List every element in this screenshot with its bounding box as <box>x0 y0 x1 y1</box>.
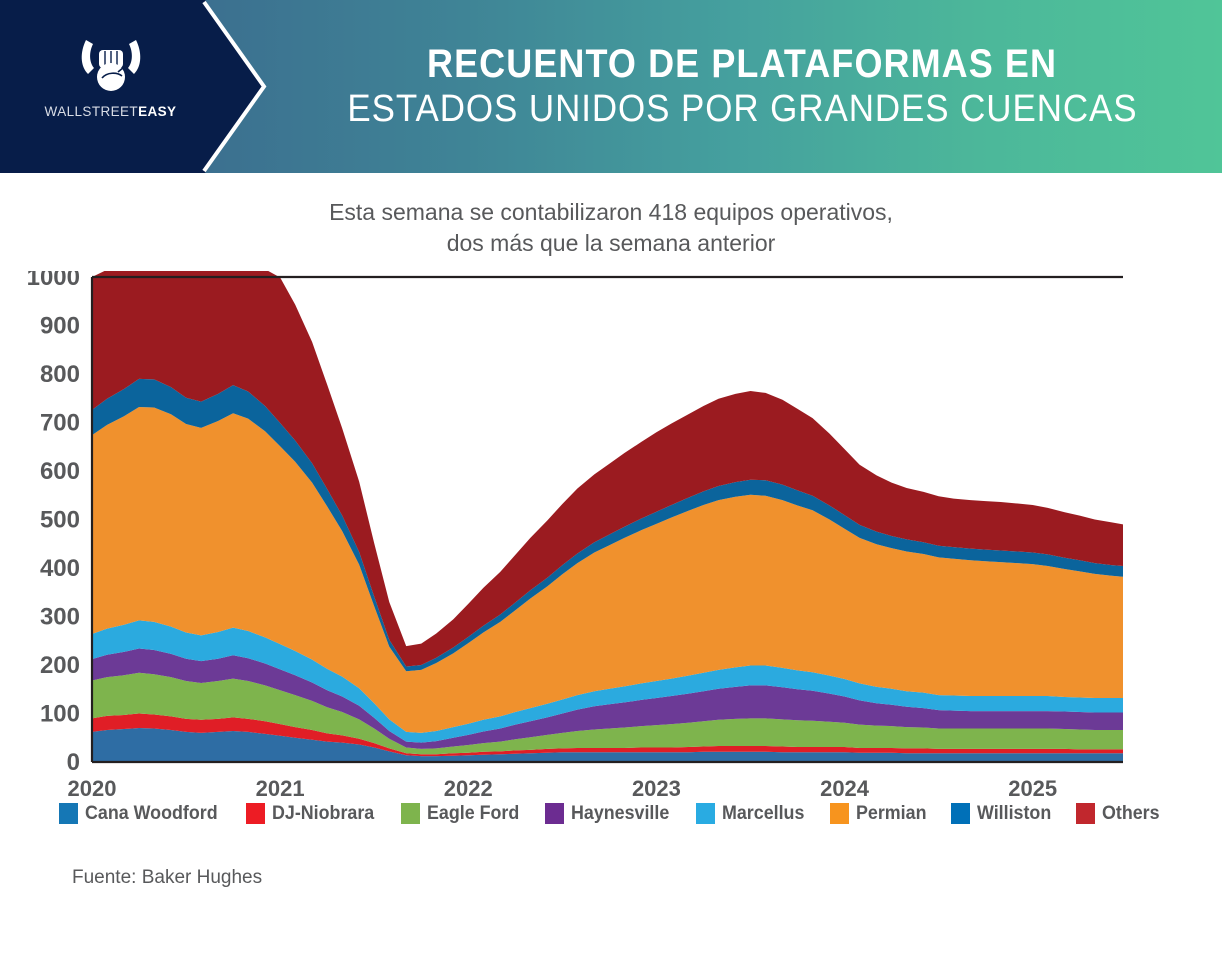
legend-label: Permian <box>856 803 926 825</box>
x-axis-tick-label: 2025 <box>1008 776 1057 801</box>
legend-label: Eagle Ford <box>427 803 519 825</box>
legend-swatch-icon <box>545 803 564 824</box>
legend-swatch-icon <box>830 803 849 824</box>
y-axis-tick-label: 600 <box>40 458 80 485</box>
legend-label: Marcellus <box>722 803 804 825</box>
legend-swatch-icon <box>696 803 715 824</box>
y-axis-tick-label: 300 <box>40 603 80 630</box>
legend-item-haynesville[interactable]: Haynesville <box>545 803 676 825</box>
y-axis-tick-label: 0 <box>67 749 80 776</box>
legend-item-cana-woodford[interactable]: Cana Woodford <box>59 803 226 825</box>
header-title-block: RECUENTO DE PLATAFORMAS EN ESTADOS UNIDO… <box>262 0 1222 173</box>
legend-swatch-icon <box>1076 803 1095 824</box>
x-axis-tick-label: 2022 <box>444 776 493 801</box>
legend-label: Cana Woodford <box>85 803 218 825</box>
legend-item-marcellus[interactable]: Marcellus <box>696 803 810 825</box>
logo-wordmark-bold: EASY <box>138 104 176 119</box>
x-axis-tick-label: 2023 <box>632 776 681 801</box>
legend-swatch-icon <box>246 803 265 824</box>
source-note: Fuente: Baker Hughes <box>0 867 1222 889</box>
legend-item-permian[interactable]: Permian <box>830 803 931 825</box>
legend-item-others[interactable]: Others <box>1076 803 1163 825</box>
brand-logo: WALLSTREETEASY <box>38 32 183 142</box>
bull-fist-logo-icon <box>74 32 148 100</box>
page-title-line2: ESTADOS UNIDOS POR GRANDES CUENCAS <box>347 88 1137 131</box>
chart-subtitle-line2: dos más que la semana anterior <box>0 228 1222 259</box>
x-axis-tick-label: 2021 <box>256 776 305 801</box>
y-axis-tick-label: 200 <box>40 652 80 679</box>
chart-subtitle: Esta semana se contabilizaron 418 equipo… <box>0 197 1222 259</box>
legend-item-williston[interactable]: Williston <box>951 803 1056 825</box>
chart-container: 0100200300400500600700800900100020202021… <box>0 271 1222 801</box>
y-axis-tick-label: 900 <box>40 312 80 339</box>
legend-label: Haynesville <box>571 803 669 825</box>
legend-swatch-icon <box>951 803 970 824</box>
y-axis-tick-label: 500 <box>40 506 80 533</box>
y-axis-tick-label: 1000 <box>27 271 80 291</box>
x-axis-tick-label: 2024 <box>820 776 870 801</box>
y-axis-tick-label: 400 <box>40 555 80 582</box>
legend-item-eagle-ford[interactable]: Eagle Ford <box>401 803 525 825</box>
y-axis-tick-label: 800 <box>40 361 80 388</box>
stacked-area-chart: 0100200300400500600700800900100020202021… <box>0 271 1222 801</box>
legend-label: Others <box>1102 803 1160 825</box>
chart-subtitle-line1: Esta semana se contabilizaron 418 equipo… <box>0 197 1222 228</box>
logo-wordmark-light: WALLSTREET <box>45 104 139 119</box>
x-axis-tick-label: 2020 <box>68 776 117 801</box>
legend-swatch-icon <box>59 803 78 824</box>
legend-item-dj-niobrara[interactable]: DJ-Niobrara <box>246 803 381 825</box>
legend-label: Williston <box>977 803 1051 825</box>
page-header: WALLSTREETEASY RECUENTO DE PLATAFORMAS E… <box>0 0 1222 173</box>
y-axis-tick-label: 700 <box>40 409 80 436</box>
y-axis-tick-label: 100 <box>40 700 80 727</box>
page-title-line1: RECUENTO DE PLATAFORMAS EN <box>427 43 1057 86</box>
logo-wordmark: WALLSTREETEASY <box>45 104 177 119</box>
legend-swatch-icon <box>401 803 420 824</box>
legend-label: DJ-Niobrara <box>272 803 374 825</box>
chart-legend: Cana WoodfordDJ-NiobraraEagle FordHaynes… <box>0 803 1222 825</box>
